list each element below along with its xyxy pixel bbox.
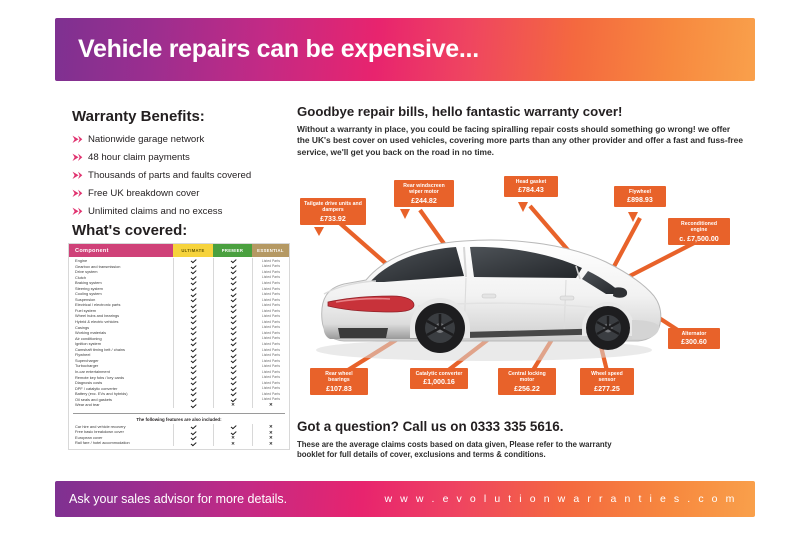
warranty-benefits-title: Warranty Benefits: (72, 108, 205, 125)
cell-text: Listed Parts (262, 342, 280, 346)
tick-icon (191, 402, 196, 408)
benefit-label: Nationwide garage network (85, 134, 204, 145)
cross-icon: ✕ (269, 424, 273, 429)
callout-flywheel[interactable]: Flywheel £898.93 (614, 186, 666, 207)
cell-text: Listed Parts (262, 309, 280, 313)
list-item: Thousands of parts and faults covered (72, 167, 287, 184)
extras-body: Car hire and vehicle recovery✕Free basic… (69, 424, 289, 449)
vehicle-illustration (316, 240, 661, 361)
table-row: Rail fare / hotel accommodation✕✕ (69, 440, 289, 446)
cross-icon: ✕ (269, 402, 273, 407)
callout-price: £256.22 (502, 386, 552, 392)
cell-premier: ✕ (213, 402, 252, 408)
cell-text: Listed Parts (262, 375, 280, 379)
header-banner: Vehicle repairs can be expensive... (55, 18, 755, 81)
tick-icon (231, 429, 236, 435)
cell-text: Listed Parts (262, 287, 280, 291)
cell-text: Listed Parts (262, 397, 280, 401)
cell-text: Listed Parts (262, 381, 280, 385)
cell-essential: ✕ (252, 440, 289, 446)
callout-label: Reconditioned engine (672, 221, 726, 234)
callout-rear-wiper-motor[interactable]: Rear windscreen wiper motor £244.82 (394, 180, 454, 207)
cell-text: Listed Parts (262, 264, 280, 268)
callout-central-locking-motor[interactable]: Central locking motor £256.22 (498, 368, 556, 395)
cell-text: Listed Parts (262, 275, 280, 279)
callout-label: Catalytic converter (414, 371, 464, 377)
callout-tail (314, 227, 324, 236)
cell-text: Listed Parts (262, 325, 280, 329)
benefit-label: 48 hour claim payments (85, 152, 190, 163)
cell-text: Listed Parts (262, 370, 280, 374)
cell-ultimate (173, 402, 213, 408)
cross-icon: ✕ (231, 441, 235, 446)
footer-website[interactable]: w w w . e v o l u t i o n w a r r a n t … (384, 493, 737, 505)
lead-heading: Goodbye repair bills, hello fantastic wa… (297, 104, 622, 119)
cross-icon: ✕ (231, 435, 235, 440)
column-header-component: Component (69, 244, 173, 257)
callout-tail (518, 202, 528, 212)
chevron-right-icon (72, 153, 85, 162)
callout-label: Flywheel (618, 189, 662, 195)
callout-rear-wheel-bearings[interactable]: Rear wheel bearings £107.83 (310, 368, 368, 395)
table-row: Wear and tear✕✕ (69, 402, 289, 408)
extras-title: The following features are also included… (73, 413, 285, 424)
column-header-ultimate: ULTIMATE (173, 244, 213, 257)
cell-ultimate (173, 440, 213, 446)
chevron-right-icon (72, 207, 85, 216)
cell-text: Listed Parts (262, 270, 280, 274)
callout-price: £733.92 (304, 216, 362, 222)
whats-covered-title: What's covered: (72, 222, 187, 239)
chevron-right-icon (72, 189, 85, 198)
cell-text: Listed Parts (262, 331, 280, 335)
callout-alternator[interactable]: Alternator £300.60 (668, 328, 720, 349)
callout-label: Central locking motor (502, 371, 552, 384)
cell-text: Listed Parts (262, 259, 280, 263)
cell-text: Listed Parts (262, 320, 280, 324)
table-header-row: Component ULTIMATE PREMIER ESSENTIAL (69, 244, 289, 257)
cross-icon: ✕ (269, 435, 273, 440)
callout-price: £107.83 (314, 386, 364, 392)
callout-label: Rear wheel bearings (314, 371, 364, 384)
tick-icon (191, 440, 196, 446)
list-item: 48 hour claim payments (72, 149, 287, 166)
cell-text: Listed Parts (262, 359, 280, 363)
cell-essential: ✕ (252, 402, 289, 408)
cross-icon: ✕ (231, 402, 235, 407)
cell-text: Listed Parts (262, 392, 280, 396)
cell-text: Listed Parts (262, 336, 280, 340)
callout-label: Tailgate drive units and dampers (304, 201, 362, 214)
benefit-label: Free UK breakdown cover (85, 188, 199, 199)
table-body: EngineListed PartsGearbox and transmissi… (69, 257, 289, 410)
cell-text: Listed Parts (262, 298, 280, 302)
callout-tail (400, 209, 410, 219)
benefit-label: Unlimited claims and no excess (85, 206, 222, 217)
callout-label: Head gasket (508, 179, 554, 185)
column-header-premier: PREMIER (213, 244, 252, 257)
benefit-label: Thousands of parts and faults covered (85, 170, 251, 181)
callout-head-gasket[interactable]: Head gasket £784.43 (504, 176, 558, 197)
cross-icon: ✕ (269, 441, 273, 446)
callout-price: £1,000.16 (414, 379, 464, 385)
list-item: Unlimited claims and no excess (72, 203, 287, 220)
callout-tailgate-drive-units[interactable]: Tailgate drive units and dampers £733.92 (300, 198, 366, 225)
list-item: Free UK breakdown cover (72, 185, 287, 202)
row-label: Wear and tear (69, 402, 173, 408)
callout-tail (628, 212, 638, 222)
callout-price: £277.25 (584, 386, 630, 392)
cell-text: Listed Parts (262, 348, 280, 352)
chevron-right-icon (72, 171, 85, 180)
cell-text: Listed Parts (262, 314, 280, 318)
footer-banner: Ask your sales advisor for more details.… (55, 481, 755, 517)
footer-message: Ask your sales advisor for more details. (69, 492, 287, 506)
callout-price: £300.60 (672, 339, 716, 345)
callout-price: £784.43 (508, 187, 554, 193)
cell-text: Listed Parts (262, 292, 280, 296)
warranty-benefits-list: Nationwide garage network 48 hour claim … (72, 131, 287, 221)
cta-heading: Got a question? Call us on 0333 335 5616… (297, 419, 563, 434)
cell-text: Listed Parts (262, 303, 280, 307)
cell-premier: ✕ (213, 440, 252, 446)
page-title: Vehicle repairs can be expensive... (78, 35, 479, 64)
callout-price: £898.93 (618, 197, 662, 203)
callout-label: Alternator (672, 331, 716, 337)
callout-wheel-speed-sensor[interactable]: Wheel speed sensor £277.25 (580, 368, 634, 395)
column-header-essential: ESSENTIAL (252, 244, 289, 257)
chevron-right-icon (72, 135, 85, 144)
cell-text: Listed Parts (262, 353, 280, 357)
cell-text: Listed Parts (262, 364, 280, 368)
callout-catalytic-converter[interactable]: Catalytic converter £1,000.16 (410, 368, 468, 389)
cell-text: Listed Parts (262, 281, 280, 285)
vehicle-cost-diagram: Tailgate drive units and dampers £733.92… (292, 170, 752, 415)
list-item: Nationwide garage network (72, 131, 287, 148)
callout-label: Rear windscreen wiper motor (398, 183, 450, 196)
cell-text: Listed Parts (262, 386, 280, 390)
callout-label: Wheel speed sensor (584, 371, 630, 384)
poster-page: Vehicle repairs can be expensive... Warr… (0, 0, 800, 533)
callout-reconditioned-engine[interactable]: Reconditioned engine c. £7,500.00 (668, 218, 730, 245)
callout-price: £244.82 (398, 198, 450, 204)
lead-body: Without a warranty in place, you could b… (297, 124, 743, 158)
tick-icon (231, 396, 236, 402)
row-label: Rail fare / hotel accommodation (69, 440, 173, 446)
cta-disclaimer: These are the average claims costs based… (297, 440, 627, 461)
coverage-table: Component ULTIMATE PREMIER ESSENTIAL Eng… (68, 243, 290, 450)
cross-icon: ✕ (269, 430, 273, 435)
callout-price: c. £7,500.00 (672, 236, 726, 242)
